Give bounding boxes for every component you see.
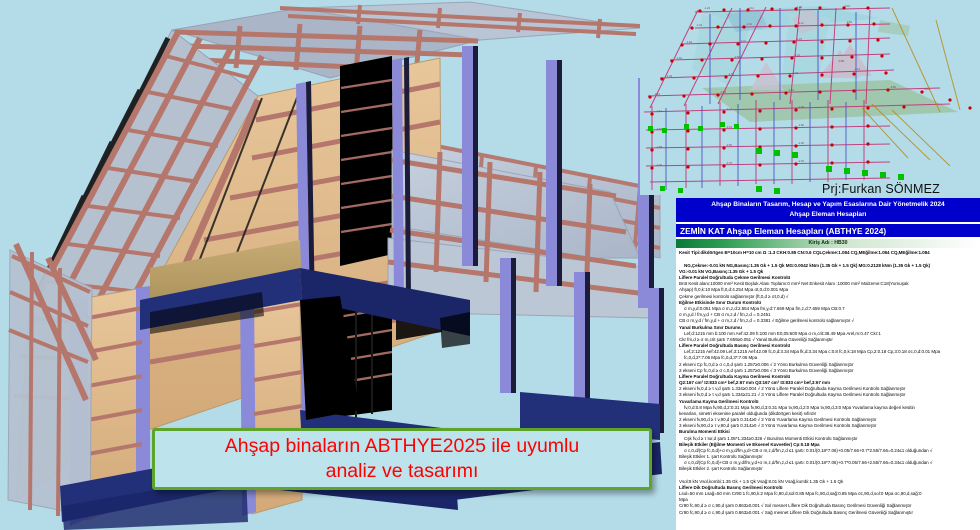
svg-text:-1.68: -1.68 [798, 105, 804, 109]
svg-text:-1.54: -1.54 [788, 88, 794, 92]
svg-text:-1.24: -1.24 [704, 6, 710, 10]
report-title-line1: Ahşap Binaların Tasarım, Hesap ve Yapım … [680, 200, 976, 210]
svg-text:-1.42: -1.42 [792, 71, 798, 75]
svg-text:-2.71: -2.71 [728, 72, 734, 76]
report-title-line2: Ahşap Eleman Hesapları [680, 210, 976, 220]
svg-text:-1.14: -1.14 [854, 67, 860, 71]
svg-text:-3.78: -3.78 [726, 161, 732, 165]
svg-text:-3.12: -3.12 [726, 107, 732, 111]
svg-text:-2.94: -2.94 [720, 90, 726, 94]
svg-text:-2.12: -2.12 [748, 6, 754, 10]
beam-name-label: Kiriş Adı : HB30 [676, 240, 980, 246]
svg-text:-1.93: -1.93 [666, 74, 672, 78]
svg-text:-1.34: -1.34 [696, 23, 702, 27]
svg-text:-1.11: -1.11 [798, 21, 804, 25]
svg-text:-1.24: -1.24 [796, 37, 802, 41]
svg-text:-2.01: -2.01 [746, 22, 752, 26]
calculation-report-panel[interactable]: Ahşap Binaların Tasarım, Hesap ve Yapım … [676, 198, 980, 530]
svg-text:-0.98: -0.98 [838, 59, 844, 63]
svg-text:-2.31: -2.31 [740, 39, 746, 43]
caption-text: Ahşap binaların ABTHYE2025 ile uyumlu an… [225, 434, 579, 484]
report-line: Cr90 fc,90,d ≥ σ c,90,d şartı 0.863≥0.00… [679, 510, 977, 516]
svg-text:-2.66: -2.66 [656, 127, 662, 131]
svg-text:-1.96: -1.96 [798, 141, 804, 145]
structural-analysis-wireframe[interactable]: -1.24-2.12-1.08 -0.91-1.34-2.01 -1.11-0.… [640, 0, 980, 195]
report-title-bar: Ahşap Binaların Tasarım, Hesap ve Yapım … [676, 198, 980, 222]
svg-text:-0.41: -0.41 [924, 87, 930, 91]
beam-name-band: Kiriş Adı : HB30 [676, 239, 980, 248]
svg-text:-3.56: -3.56 [726, 143, 732, 147]
screenshot-root: -1.24-2.12-1.08 -0.91-1.34-2.01 -1.11-0.… [0, 0, 980, 530]
report-subtitle: ZEMİN KAT Ahşap Eleman Hesapları (ABTHYE… [676, 224, 980, 237]
svg-text:-0.84: -0.84 [846, 20, 852, 24]
svg-text:-2.88: -2.88 [656, 145, 662, 149]
svg-text:-3.02: -3.02 [656, 163, 662, 167]
caption-banner: Ahşap binaların ABTHYE2025 ile uyumlu an… [152, 428, 652, 490]
svg-text:-2.04: -2.04 [798, 159, 804, 163]
svg-text:-1.64: -1.64 [686, 40, 692, 44]
svg-text:-2.14: -2.14 [654, 92, 660, 96]
svg-text:-3.34: -3.34 [726, 125, 732, 129]
svg-text:-1.08: -1.08 [796, 5, 802, 9]
report-body: Kesit Tipi:dikdörtgen B=10cm H=10 cm Ω :… [676, 248, 980, 515]
project-label: Prj:Furkan SÖNMEZ [822, 182, 940, 196]
svg-text:-0.62: -0.62 [890, 85, 896, 89]
svg-text:-2.41: -2.41 [656, 109, 662, 113]
svg-text:-1.81: -1.81 [676, 56, 682, 60]
svg-text:-1.82: -1.82 [798, 123, 804, 127]
svg-text:-0.91: -0.91 [844, 4, 850, 8]
analysis-canvas: -1.24-2.12-1.08 -0.91-1.34-2.01 -1.11-0.… [640, 0, 980, 195]
svg-text:-2.55: -2.55 [734, 55, 740, 59]
svg-text:-1.31: -1.31 [794, 53, 800, 57]
